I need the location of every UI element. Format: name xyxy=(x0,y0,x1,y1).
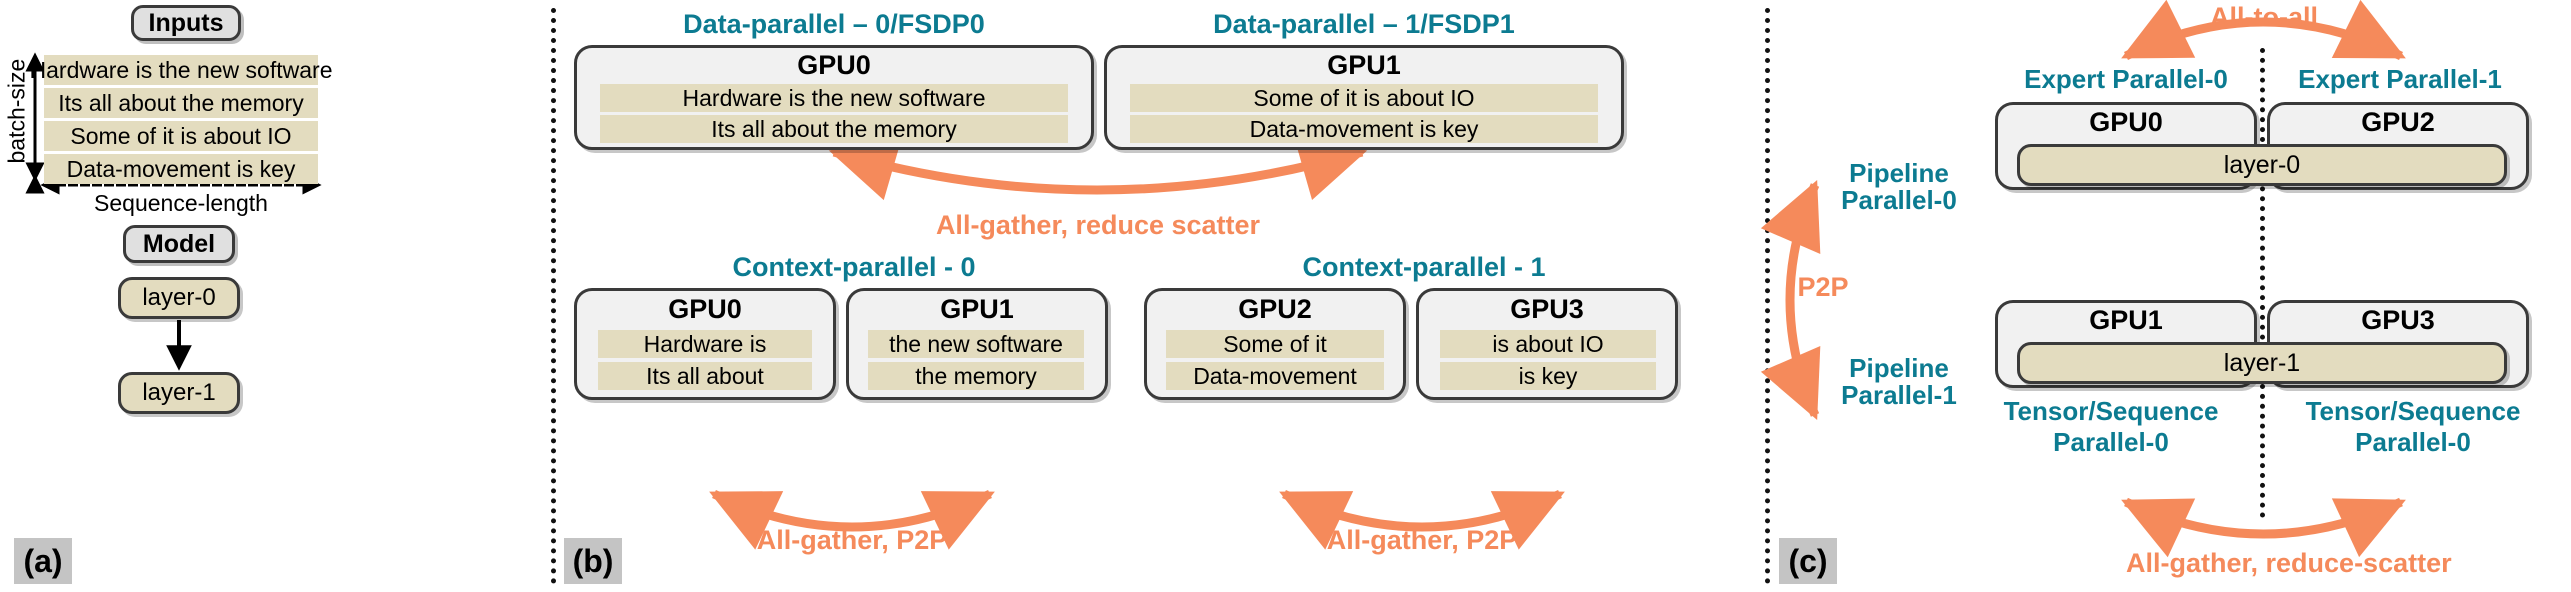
pipeline-parallel-1-label: Pipeline Parallel-1 xyxy=(1819,355,1979,410)
gpu-dp1-shard-text: Data-movement is key xyxy=(1250,116,1479,143)
gpu-box-cp1-gpu3-title: GPU3 xyxy=(1416,294,1678,325)
data-parallel-1-label: Data-parallel – 1/FSDP1 xyxy=(1104,10,1624,38)
context-parallel-0-comm-label: All-gather, P2P xyxy=(714,525,990,556)
tensor-sequence-1-line2: Parallel-0 xyxy=(2355,427,2471,457)
data-parallel-0-label: Data-parallel – 0/FSDP0 xyxy=(574,10,1094,38)
gpu-box-cp1-gpu2-title: GPU2 xyxy=(1144,294,1406,325)
pipeline-parallel-1-line1: Pipeline xyxy=(1849,353,1949,383)
model-layer-connector-arrow xyxy=(0,0,548,592)
gpu-dp0-shard-row: Hardware is the new software xyxy=(600,84,1068,112)
pipeline-parallel-1-line2: Parallel-1 xyxy=(1841,380,1957,410)
gpu-cp1-gpu2-shard-row: Some of it xyxy=(1166,330,1384,358)
gpu-box-pp1-gpu3-title: GPU3 xyxy=(2267,305,2529,336)
all-to-all-label: All-to-all xyxy=(2126,2,2402,33)
gpu-box-cp0-gpu0-title: GPU0 xyxy=(574,294,836,325)
gpu-cp0-gpu0-shard-row: Hardware is xyxy=(598,330,812,358)
gpu-dp0-shard-text: Its all about the memory xyxy=(711,116,956,143)
gpu-cp1-gpu3-shard-row: is key xyxy=(1440,362,1656,390)
panel-b: Data-parallel – 0/FSDP0 GPU0 Hardware is… xyxy=(556,0,1761,592)
gpu-box-dp0-title: GPU0 xyxy=(574,50,1094,81)
gpu-dp0-shard-text: Hardware is the new software xyxy=(683,85,986,112)
gpu-box-pp0-gpu2-title: GPU2 xyxy=(2267,107,2529,138)
tensor-sequence-comm-label: All-gather, reduce-scatter xyxy=(2126,548,2402,579)
p2p-label: P2P xyxy=(1783,272,1863,303)
gpu-dp0-shard-row: Its all about the memory xyxy=(600,115,1068,143)
gpu-box-pp1-gpu1-title: GPU1 xyxy=(1995,305,2257,336)
model-layer-1-box: layer-1 xyxy=(118,372,240,414)
data-parallel-comm-label: All-gather, reduce scatter xyxy=(834,210,1362,241)
panel-c-tag: (c) xyxy=(1779,538,1837,584)
gpu-cp0-gpu1-shard-row: the new software xyxy=(868,330,1084,358)
gpu-cp0-gpu1-shard-row: the memory xyxy=(868,362,1084,390)
layer-0-span-label: layer-0 xyxy=(2224,151,2300,180)
gpu-dp1-shard-row: Data-movement is key xyxy=(1130,115,1598,143)
gpu-dp1-shard-text: Some of it is about IO xyxy=(1253,85,1474,112)
context-parallel-0-label: Context-parallel - 0 xyxy=(574,253,1134,281)
model-layer-1-label: layer-1 xyxy=(142,379,215,407)
gpu-cp0-gpu0-shard-row: Its all about xyxy=(598,362,812,390)
gpu-box-dp1-title: GPU1 xyxy=(1104,50,1624,81)
pipeline-parallel-0-line2: Parallel-0 xyxy=(1841,185,1957,215)
pipeline-parallel-0-label: Pipeline Parallel-0 xyxy=(1819,160,1979,215)
layer-1-span-box: layer-1 xyxy=(2017,342,2507,384)
gpu-box-cp0-gpu1-title: GPU1 xyxy=(846,294,1108,325)
tensor-sequence-parallel-0-label: Tensor/Sequence Parallel-0 xyxy=(1971,396,2251,457)
gpu-box-pp0-gpu0-title: GPU0 xyxy=(1995,107,2257,138)
layer-0-span-box: layer-0 xyxy=(2017,144,2507,186)
context-parallel-1-comm-label: All-gather, P2P xyxy=(1284,525,1560,556)
context-parallel-1-label: Context-parallel - 1 xyxy=(1144,253,1704,281)
layer-1-span-label: layer-1 xyxy=(2224,349,2300,378)
panel-a-tag: (a) xyxy=(14,538,72,584)
pipeline-parallel-0-line1: Pipeline xyxy=(1849,158,1949,188)
panel-a: Inputs batch-size Hardware is the new so… xyxy=(0,0,548,592)
gpu-cp1-gpu2-shard-row: Data-movement xyxy=(1166,362,1384,390)
expert-parallel-0-label: Expert Parallel-0 xyxy=(1991,66,2261,93)
panel-b-tag: (b) xyxy=(564,538,622,584)
gpu-cp1-gpu3-shard-row: is about IO xyxy=(1440,330,1656,358)
tensor-sequence-0-line2: Parallel-0 xyxy=(2053,427,2169,457)
tensor-sequence-0-line1: Tensor/Sequence xyxy=(2004,396,2219,426)
tensor-sequence-parallel-1-label: Tensor/Sequence Parallel-0 xyxy=(2273,396,2553,457)
tensor-sequence-1-line1: Tensor/Sequence xyxy=(2306,396,2521,426)
panel-c: All-to-all Expert Parallel-0 Expert Para… xyxy=(1771,0,2571,592)
expert-parallel-1-label: Expert Parallel-1 xyxy=(2265,66,2535,93)
gpu-dp1-shard-row: Some of it is about IO xyxy=(1130,84,1598,112)
panel-divider-b-c xyxy=(1765,8,1770,584)
